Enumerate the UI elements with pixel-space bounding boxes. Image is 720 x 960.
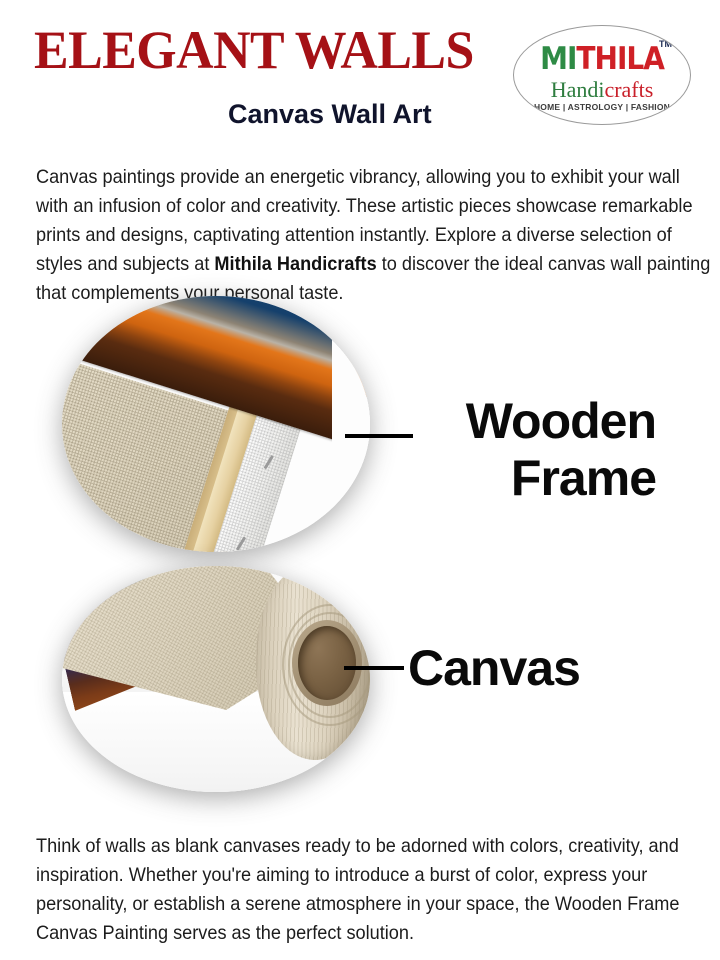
cardboard-tube-opening bbox=[298, 626, 356, 700]
canvas-roll-figure bbox=[62, 566, 370, 792]
logo-wordmark-part1: MI bbox=[540, 40, 576, 77]
canvas-roll-figure-image bbox=[62, 566, 370, 792]
wooden-frame-callout-label: Wooden Frame bbox=[428, 393, 656, 507]
logo-subword-part2: crafts bbox=[604, 77, 653, 102]
logo-tagline: HOME | ASTROLOGY | FASHION bbox=[514, 102, 690, 112]
canvas-callout-label: Canvas bbox=[408, 640, 580, 697]
white-backdrop bbox=[332, 296, 370, 552]
page-subtitle: Canvas Wall Art bbox=[228, 99, 432, 129]
intro-brand-mention: Mithila Handicrafts bbox=[214, 253, 376, 275]
canvas-roll-scene bbox=[62, 566, 370, 792]
logo-subword: Handicrafts bbox=[514, 78, 690, 102]
canvas-callout-line bbox=[344, 666, 404, 670]
wooden-frame-figure-image bbox=[62, 296, 370, 552]
wooden-frame-callout-line bbox=[345, 434, 413, 438]
page-title: ELEGANT WALLS bbox=[34, 22, 474, 78]
closing-paragraph: Think of walls as blank canvases ready t… bbox=[36, 832, 715, 948]
mithila-handicrafts-logo: MITHILA TM Handicrafts HOME | ASTROLOGY … bbox=[513, 25, 691, 125]
page-header: ELEGANT WALLS Canvas Wall Art MITHILA TM… bbox=[0, 0, 720, 140]
wooden-frame-scene bbox=[62, 296, 370, 552]
intro-paragraph: Canvas paintings provide an energetic vi… bbox=[36, 163, 715, 308]
wooden-frame-figure bbox=[62, 296, 370, 552]
logo-subword-part1: Handi bbox=[551, 77, 605, 102]
trademark-icon: TM bbox=[659, 39, 672, 49]
logo-wordmark-part2: THILA bbox=[576, 40, 663, 77]
